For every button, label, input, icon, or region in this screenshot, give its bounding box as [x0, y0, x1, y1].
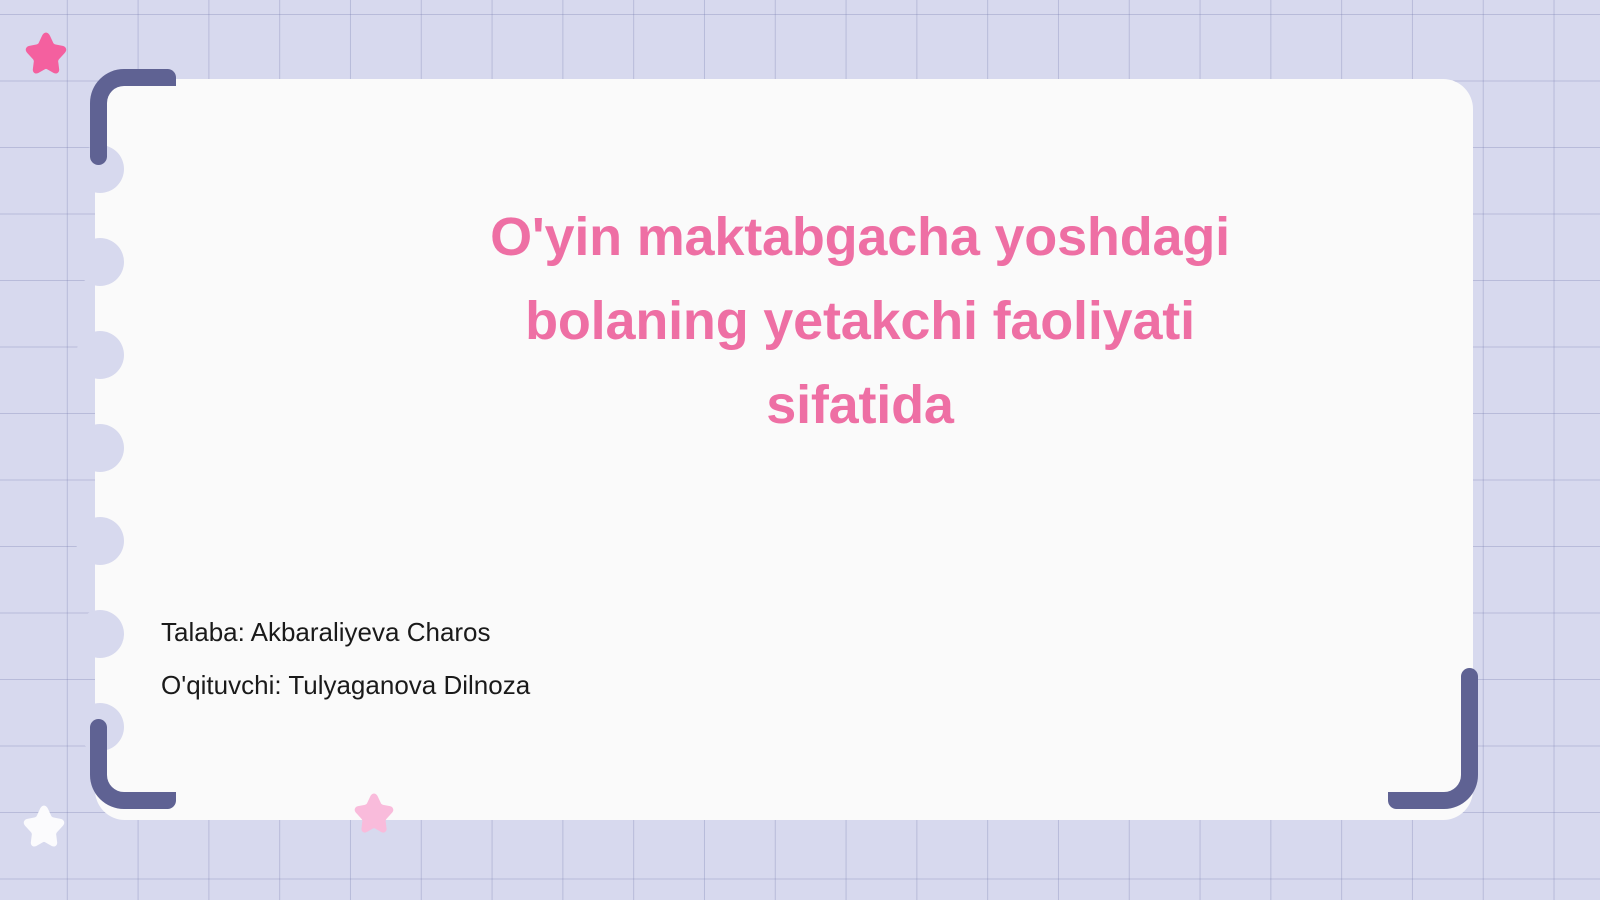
star-icon	[22, 803, 66, 847]
card-scallop-notch	[76, 238, 124, 286]
card-scallop-notch	[76, 424, 124, 472]
slide-title: O'yin maktabgacha yoshdagi bolaning yeta…	[255, 195, 1465, 447]
card-scallop-notch	[76, 610, 124, 658]
card-scallop-notch	[76, 331, 124, 379]
byline-teacher: O'qituvchi: Tulyaganova Dilnoza	[161, 659, 1061, 712]
card-scallop-notch	[76, 517, 124, 565]
slide-card: O'yin maktabgacha yoshdagi bolaning yeta…	[95, 79, 1473, 820]
star-icon	[24, 30, 68, 74]
corner-bracket-top-left	[90, 69, 168, 157]
corner-bracket-bottom-right	[1396, 676, 1478, 809]
corner-bracket-bottom-left	[90, 727, 168, 809]
slide-byline: Talaba: Akbaraliyeva Charos O'qituvchi: …	[161, 606, 1061, 712]
byline-student: Talaba: Akbaraliyeva Charos	[161, 606, 1061, 659]
star-icon	[353, 791, 395, 833]
